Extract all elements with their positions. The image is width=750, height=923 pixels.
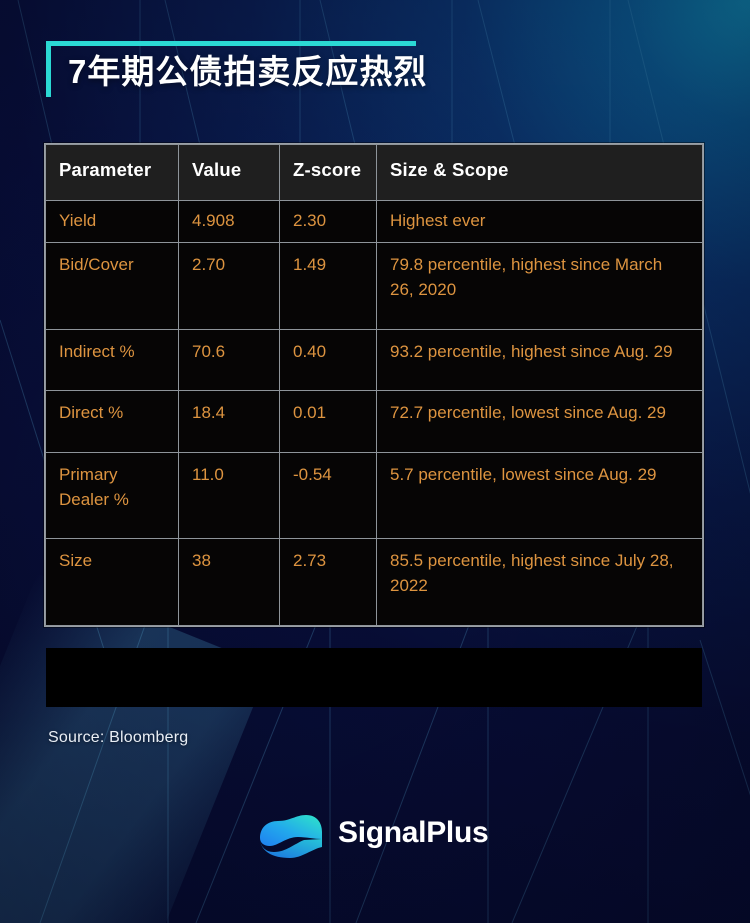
auction-stats-table: Parameter Value Z-score Size & Scope Yie… (44, 143, 704, 627)
cell-parameter: Bid/Cover (46, 243, 179, 329)
cell-size-scope: Highest ever (377, 200, 703, 243)
cell-zscore: 0.40 (280, 329, 377, 391)
brand-name: SignalPlus (338, 818, 488, 848)
table-footer-block (46, 648, 702, 707)
poster-canvas: 7年期公债拍卖反应热烈 Parameter Value Z-score Size… (0, 0, 750, 923)
cell-parameter: Yield (46, 200, 179, 243)
column-header-size-scope: Size & Scope (377, 145, 703, 201)
table-row: Bid/Cover 2.70 1.49 79.8 percentile, hig… (46, 243, 703, 329)
cell-value: 4.908 (179, 200, 280, 243)
table-row: Primary Dealer % 11.0 -0.54 5.7 percenti… (46, 453, 703, 539)
source-note: Source: Bloomberg (48, 729, 188, 747)
title-block: 7年期公债拍卖反应热烈 (46, 41, 686, 103)
cell-zscore: 0.01 (280, 391, 377, 453)
cell-value: 2.70 (179, 243, 280, 329)
cell-value: 70.6 (179, 329, 280, 391)
page-title: 7年期公债拍卖反应热烈 (68, 45, 427, 93)
cell-size-scope: 79.8 percentile, highest since March 26,… (377, 243, 703, 329)
cell-value: 38 (179, 539, 280, 625)
table-header: Parameter Value Z-score Size & Scope (46, 145, 703, 201)
cell-parameter: Indirect % (46, 329, 179, 391)
column-header-parameter: Parameter (46, 145, 179, 201)
title-bracket-left (46, 41, 51, 97)
table-row: Size 38 2.73 85.5 percentile, highest si… (46, 539, 703, 625)
cell-size-scope: 85.5 percentile, highest since July 28, … (377, 539, 703, 625)
table-row: Indirect % 70.6 0.40 93.2 percentile, hi… (46, 329, 703, 391)
table-header-row: Parameter Value Z-score Size & Scope (46, 145, 703, 201)
signalplus-mark-icon (256, 806, 324, 860)
cell-zscore: 1.49 (280, 243, 377, 329)
cell-zscore: 2.30 (280, 200, 377, 243)
cell-size-scope: 5.7 percentile, lowest since Aug. 29 (377, 453, 703, 539)
cell-value: 11.0 (179, 453, 280, 539)
brand-logo: SignalPlus (256, 805, 496, 861)
column-header-zscore: Z-score (280, 145, 377, 201)
cell-parameter: Direct % (46, 391, 179, 453)
cell-zscore: -0.54 (280, 453, 377, 539)
cell-size-scope: 93.2 percentile, highest since Aug. 29 (377, 329, 703, 391)
cell-parameter: Primary Dealer % (46, 453, 179, 539)
column-header-value: Value (179, 145, 280, 201)
cell-parameter: Size (46, 539, 179, 625)
cell-size-scope: 72.7 percentile, lowest since Aug. 29 (377, 391, 703, 453)
table-row: Direct % 18.4 0.01 72.7 percentile, lowe… (46, 391, 703, 453)
table-row: Yield 4.908 2.30 Highest ever (46, 200, 703, 243)
cell-value: 18.4 (179, 391, 280, 453)
cell-zscore: 2.73 (280, 539, 377, 625)
table-body: Yield 4.908 2.30 Highest ever Bid/Cover … (46, 200, 703, 625)
table: Parameter Value Z-score Size & Scope Yie… (45, 144, 703, 626)
